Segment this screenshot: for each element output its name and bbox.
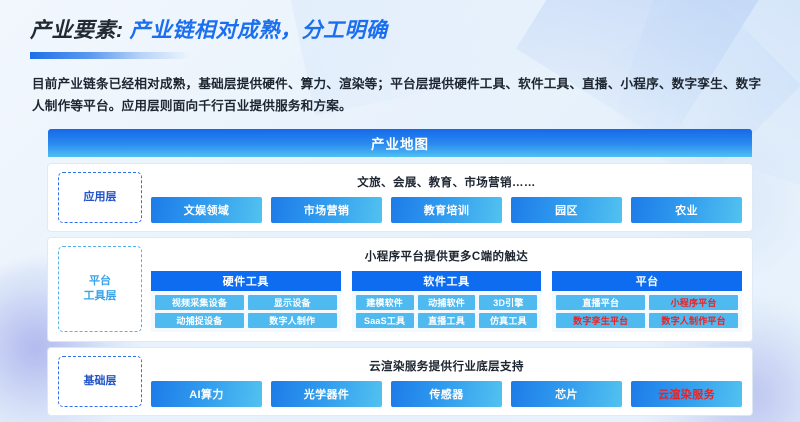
grid-row: 直播平台 小程序平台 [556, 295, 738, 310]
sw-button-0[interactable]: 建模软件 [356, 295, 414, 310]
hw-button-1-label: 显示设备 [274, 296, 311, 309]
base-button-0[interactable]: AI算力 [151, 381, 262, 407]
intro-paragraph: 目前产业链条已经相对成熟，基础层提供硬件、算力、渲染等；平台层提供硬件工具、软件… [32, 73, 766, 117]
hw-button-2[interactable]: 动捕捉设备 [155, 313, 244, 328]
layer-tag-platform-line2: 工具层 [84, 290, 117, 302]
base-button-4[interactable]: 云渲染服务 [631, 381, 742, 407]
sw-button-3-label: SaaS工具 [364, 314, 405, 327]
page-header: 产业要素: 产业链相对成熟，分工明确 [0, 0, 800, 59]
pf-button-2[interactable]: 数字孪生平台 [556, 313, 645, 328]
base-button-3[interactable]: 芯片 [511, 381, 622, 407]
sw-button-5-label: 仿真工具 [490, 314, 527, 327]
platform-group-software-title: 软件工具 [352, 271, 542, 291]
base-button-2[interactable]: 传感器 [391, 381, 502, 407]
sw-button-0-label: 建模软件 [366, 296, 403, 309]
layer-tag-application[interactable]: 应用层 [58, 172, 142, 223]
layer-caption-platform: 小程序平台提供更多C端的触达 [151, 248, 742, 264]
layer-panel-platform: 平台 工具层 小程序平台提供更多C端的触达 硬件工具 视频采集设备 显示设备 动… [48, 238, 752, 341]
pf-button-3-label: 数字人制作平台 [661, 314, 725, 327]
app-button-4[interactable]: 农业 [631, 197, 742, 223]
grid-row: 建模软件 动捕软件 3D引擎 [356, 295, 538, 310]
layer-tag-platform-label: 平台 工具层 [84, 274, 117, 304]
grid-row: 数字孪生平台 数字人制作平台 [556, 313, 738, 328]
sw-button-4[interactable]: 直播工具 [418, 313, 476, 328]
platform-group-software-grid: 建模软件 动捕软件 3D引擎 SaaS工具 直播工具 仿真工具 [352, 291, 542, 332]
page-title-sub: 产业链相对成熟，分工明确 [130, 14, 388, 44]
platform-group-software: 软件工具 建模软件 动捕软件 3D引擎 SaaS工具 直播工具 仿真工具 [352, 271, 542, 332]
sw-button-3[interactable]: SaaS工具 [356, 313, 414, 328]
hw-button-3[interactable]: 数字人制作 [248, 313, 337, 328]
layer-body-application: 文旅、会展、教育、市场营销…… 文娱领域 市场营销 教育培训 园区 农业 [151, 172, 742, 223]
app-button-0[interactable]: 文娱领域 [151, 197, 262, 223]
platform-group-row: 硬件工具 视频采集设备 显示设备 动捕捉设备 数字人制作 软件工 [151, 271, 742, 332]
sw-button-2-label: 3D引擎 [493, 296, 523, 309]
layer-tag-platform-line1: 平台 [89, 275, 111, 287]
industry-map: 产业地图 应用层 文旅、会展、教育、市场营销…… 文娱领域 市场营销 教育培训 … [48, 129, 752, 415]
sw-button-1-label: 动捕软件 [428, 296, 465, 309]
title-underline-bar [30, 52, 190, 59]
base-button-2-label: 传感器 [429, 386, 463, 402]
app-button-1-label: 市场营销 [304, 202, 350, 218]
hw-button-0-label: 视频采集设备 [172, 296, 227, 309]
page-title: 产业要素: 产业链相对成熟，分工明确 [30, 14, 800, 44]
layer-panel-application: 应用层 文旅、会展、教育、市场营销…… 文娱领域 市场营销 教育培训 园区 农业 [48, 164, 752, 231]
sw-button-5[interactable]: 仿真工具 [479, 313, 537, 328]
app-button-3-label: 园区 [555, 202, 578, 218]
app-button-3[interactable]: 园区 [511, 197, 622, 223]
platform-group-platform-grid: 直播平台 小程序平台 数字孪生平台 数字人制作平台 [552, 291, 742, 332]
layer-body-platform: 小程序平台提供更多C端的触达 硬件工具 视频采集设备 显示设备 动捕捉设备 数字… [151, 246, 742, 332]
pf-button-0[interactable]: 直播平台 [556, 295, 645, 310]
layer-tag-platform[interactable]: 平台 工具层 [58, 246, 142, 332]
base-button-0-label: AI算力 [189, 386, 224, 402]
hw-button-0[interactable]: 视频采集设备 [155, 295, 244, 310]
layer-caption-foundation: 云渲染服务提供行业底层支持 [151, 358, 742, 374]
grid-row: 视频采集设备 显示设备 [155, 295, 337, 310]
industry-map-title: 产业地图 [371, 133, 429, 153]
base-button-1-label: 光学器件 [304, 386, 350, 402]
foundation-button-row: AI算力 光学器件 传感器 芯片 云渲染服务 [151, 381, 742, 407]
base-button-3-label: 芯片 [555, 386, 578, 402]
app-button-1[interactable]: 市场营销 [271, 197, 382, 223]
pf-button-1[interactable]: 小程序平台 [649, 295, 738, 310]
hw-button-3-label: 数字人制作 [269, 314, 315, 327]
app-button-2-label: 教育培训 [424, 202, 470, 218]
base-button-1[interactable]: 光学器件 [271, 381, 382, 407]
layer-tag-application-label: 应用层 [84, 190, 117, 205]
grid-row: SaaS工具 直播工具 仿真工具 [356, 313, 538, 328]
industry-map-header: 产业地图 [48, 129, 752, 157]
application-button-row: 文娱领域 市场营销 教育培训 园区 农业 [151, 197, 742, 223]
layer-caption-application: 文旅、会展、教育、市场营销…… [151, 174, 742, 190]
hw-button-1[interactable]: 显示设备 [248, 295, 337, 310]
grid-row: 动捕捉设备 数字人制作 [155, 313, 337, 328]
platform-group-hardware-title: 硬件工具 [151, 271, 341, 291]
platform-group-hardware-grid: 视频采集设备 显示设备 动捕捉设备 数字人制作 [151, 291, 341, 332]
sw-button-4-label: 直播工具 [428, 314, 465, 327]
layer-tag-foundation-label: 基础层 [84, 374, 117, 389]
platform-group-platform-title: 平台 [552, 271, 742, 291]
page-title-main: 产业要素: [30, 14, 124, 44]
platform-group-platform: 平台 直播平台 小程序平台 数字孪生平台 数字人制作平台 [552, 271, 742, 332]
pf-button-0-label: 直播平台 [582, 296, 619, 309]
sw-button-1[interactable]: 动捕软件 [418, 295, 476, 310]
app-button-2[interactable]: 教育培训 [391, 197, 502, 223]
base-button-4-label: 云渲染服务 [658, 386, 715, 402]
app-button-0-label: 文娱领域 [184, 202, 230, 218]
layer-panel-foundation: 基础层 云渲染服务提供行业底层支持 AI算力 光学器件 传感器 芯片 云渲染服务 [48, 348, 752, 415]
pf-button-2-label: 数字孪生平台 [573, 314, 628, 327]
platform-group-hardware: 硬件工具 视频采集设备 显示设备 动捕捉设备 数字人制作 [151, 271, 341, 332]
pf-button-1-label: 小程序平台 [671, 296, 717, 309]
layer-tag-foundation[interactable]: 基础层 [58, 356, 142, 407]
hw-button-2-label: 动捕捉设备 [176, 314, 222, 327]
pf-button-3[interactable]: 数字人制作平台 [649, 313, 738, 328]
sw-button-2[interactable]: 3D引擎 [479, 295, 537, 310]
app-button-4-label: 农业 [675, 202, 698, 218]
layer-body-foundation: 云渲染服务提供行业底层支持 AI算力 光学器件 传感器 芯片 云渲染服务 [151, 356, 742, 407]
